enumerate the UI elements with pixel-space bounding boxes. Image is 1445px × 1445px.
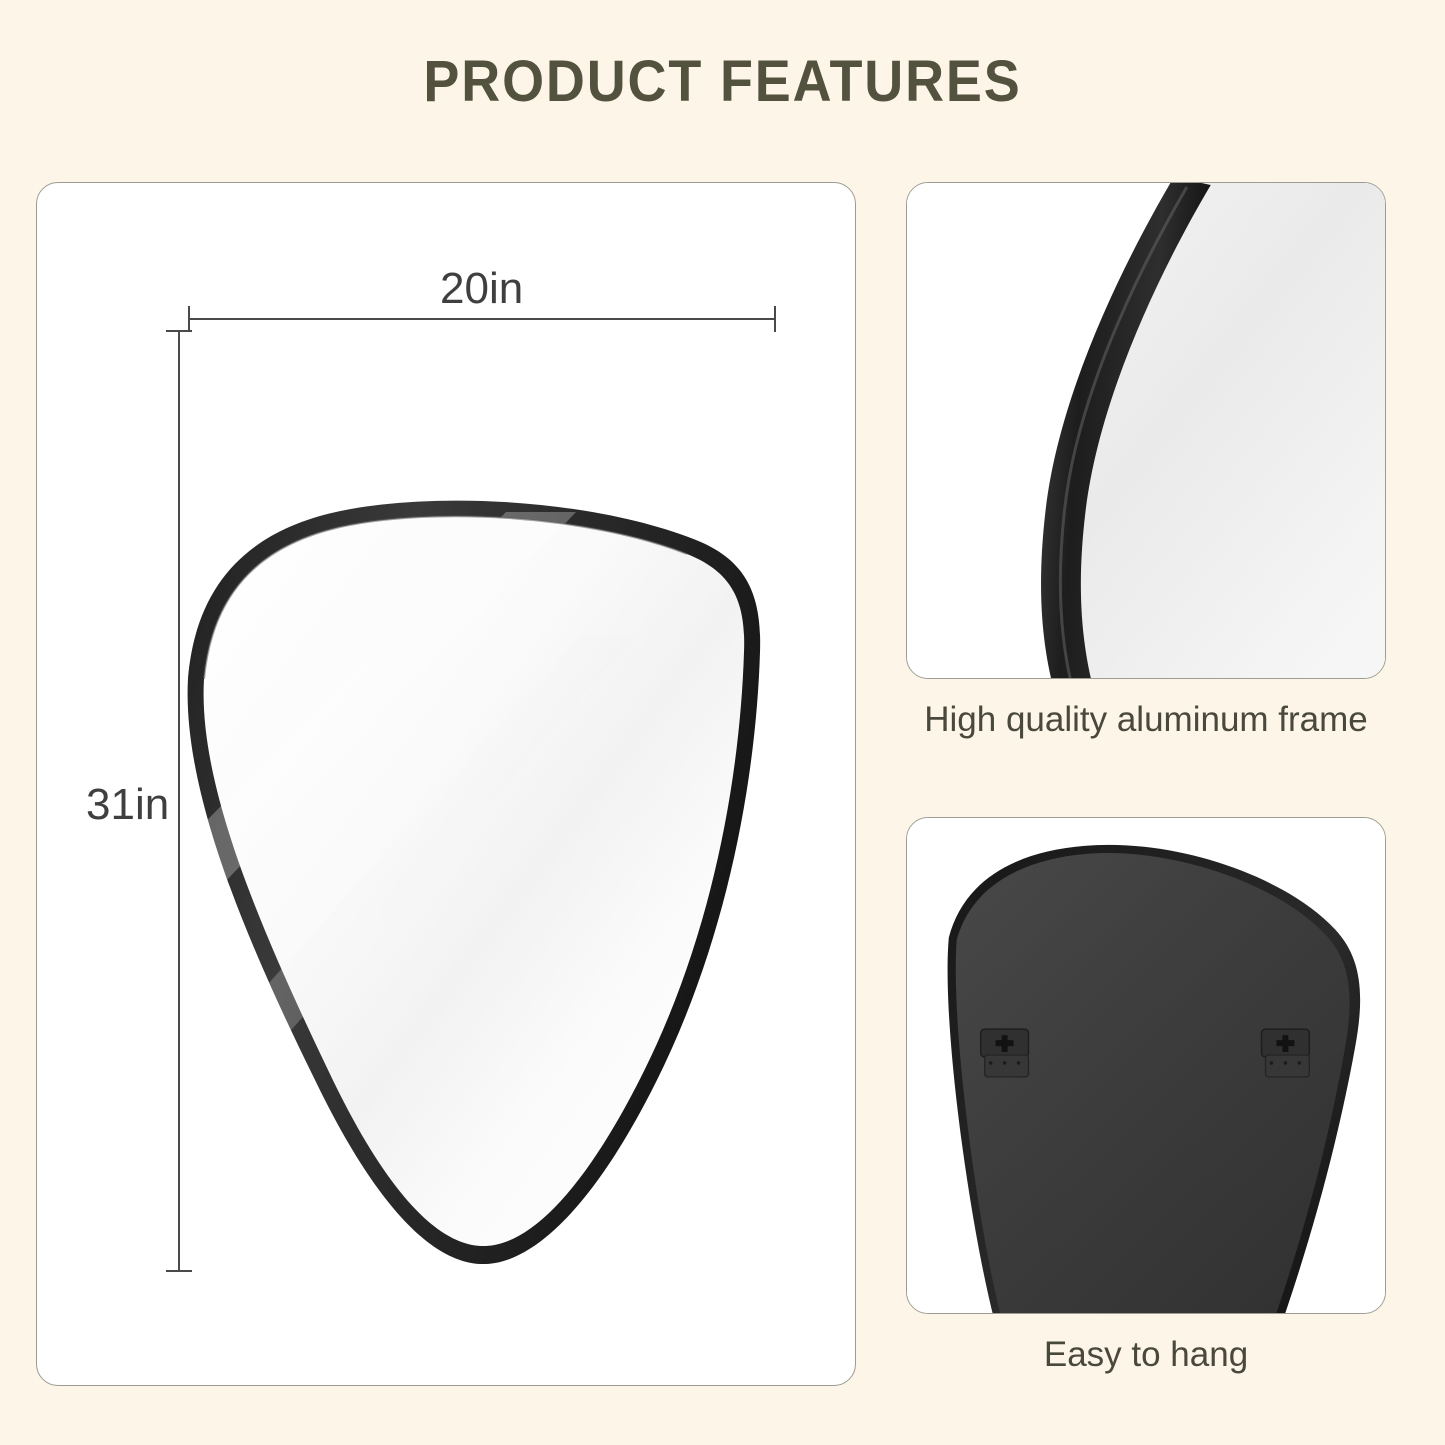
- keyhole-bracket-icon: [981, 1029, 1029, 1077]
- width-dimension-line: [188, 318, 776, 320]
- width-dimension-cap-left: [188, 306, 190, 332]
- page-title: PRODUCT FEATURES: [51, 48, 1395, 115]
- height-dimension-line: [178, 330, 180, 1272]
- back-hanging-caption: Easy to hang: [906, 1335, 1386, 1375]
- frame-closeup-illustration: [907, 183, 1385, 678]
- frame-closeup-card: [906, 182, 1386, 679]
- height-dimension-cap-bottom: [166, 1270, 192, 1272]
- width-dimension-label: 20in: [440, 264, 523, 314]
- height-dimension-cap-top: [166, 330, 192, 332]
- height-dimension-label: 31in: [86, 780, 169, 830]
- back-panel-body: [956, 853, 1350, 1313]
- keyhole-bracket-icon: [1262, 1029, 1310, 1077]
- width-dimension-cap-right: [774, 306, 776, 332]
- frame-closeup-caption: High quality aluminum frame: [906, 700, 1386, 740]
- back-hanging-card: [906, 817, 1386, 1314]
- back-panel-illustration: [907, 818, 1385, 1313]
